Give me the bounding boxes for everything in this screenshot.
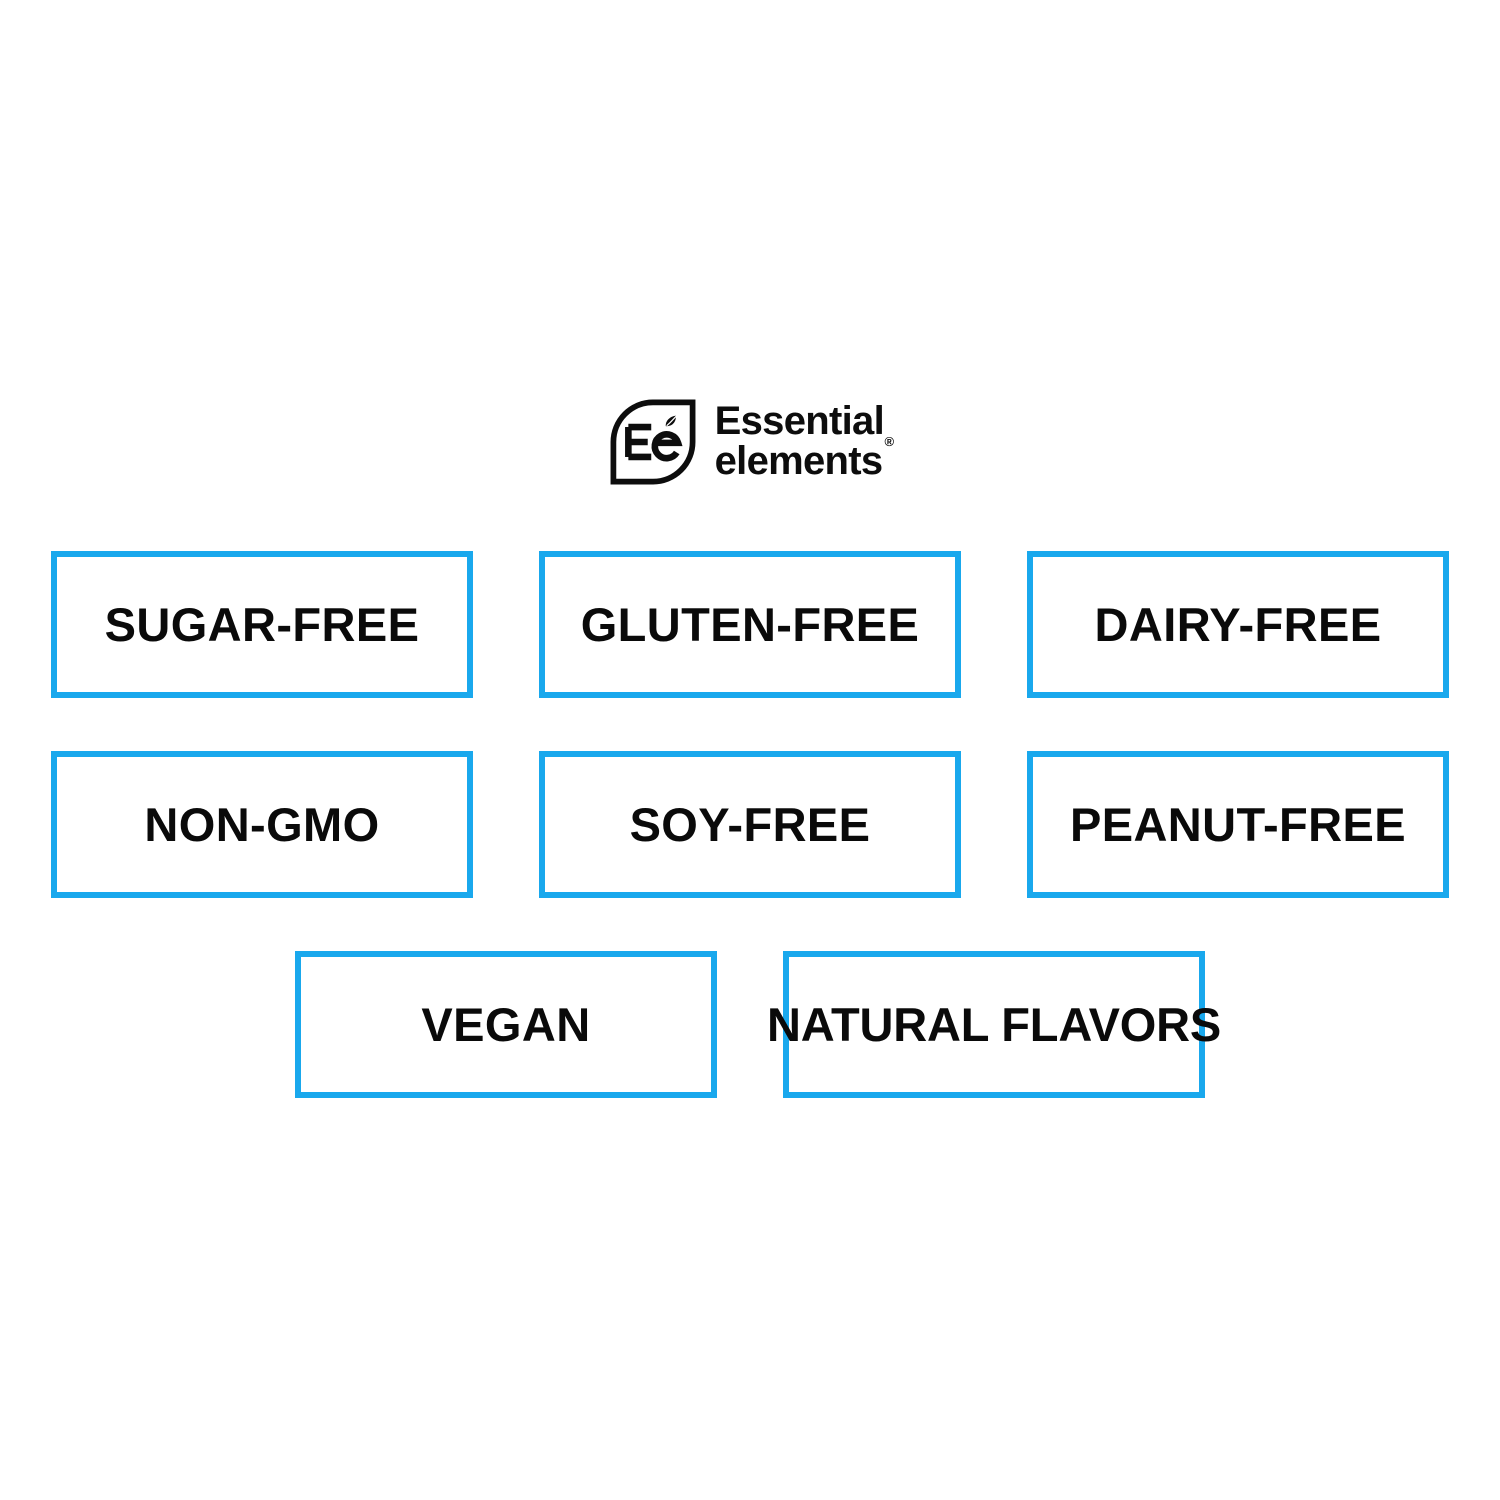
badge-sugar-free[interactable]: SUGAR-FREE [51,551,473,698]
badge-natural-flavors[interactable]: NATURAL FLAVORS [783,951,1205,1098]
badge-peanut-free[interactable]: PEANUT-FREE [1027,751,1449,898]
badge-label: PEANUT-FREE [1070,801,1406,848]
badge-vegan[interactable]: VEGAN [295,951,717,1098]
badge-label: VEGAN [421,1001,590,1048]
badge-label: SOY-FREE [630,801,871,848]
badge-dairy-free[interactable]: DAIRY-FREE [1027,551,1449,698]
badge-label: NATURAL FLAVORS [767,1001,1221,1048]
badge-row-2: NON-GMO SOY-FREE PEANUT-FREE [0,751,1500,898]
badge-label: GLUTEN-FREE [581,601,920,648]
badge-soy-free[interactable]: SOY-FREE [539,751,961,898]
badge-label: NON-GMO [144,801,379,848]
product-attributes-infographic: Essential elements® SUGAR-FREE GLUTEN-FR… [0,0,1500,1500]
badge-label: SUGAR-FREE [105,601,420,648]
attribute-badge-grid: SUGAR-FREE GLUTEN-FREE DAIRY-FREE NON-GM… [0,0,1500,1500]
badge-gluten-free[interactable]: GLUTEN-FREE [539,551,961,698]
badge-non-gmo[interactable]: NON-GMO [51,751,473,898]
badge-label: DAIRY-FREE [1095,601,1382,648]
badge-row-3: VEGAN NATURAL FLAVORS [0,951,1500,1098]
badge-row-1: SUGAR-FREE GLUTEN-FREE DAIRY-FREE [0,551,1500,698]
